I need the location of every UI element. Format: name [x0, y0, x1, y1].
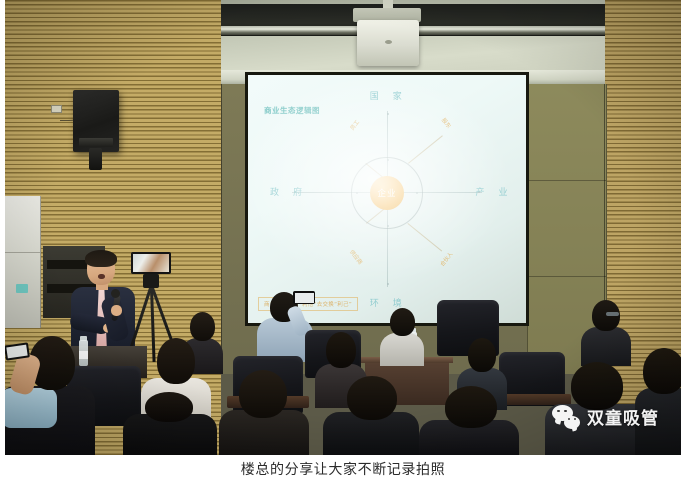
diagram-spoke [408, 135, 443, 163]
audience-phone [293, 291, 315, 304]
diagram-center-node: 企业 [370, 176, 404, 210]
watermark: 双童吸管 [552, 404, 659, 429]
audience-scarf [5, 388, 57, 428]
audience-member [323, 376, 419, 455]
diagram-satellite-label: 供应商 [348, 248, 364, 266]
slide-title: 商业生态逻辑图 [264, 105, 320, 116]
wechat-bubble-small [564, 416, 580, 429]
presenter-mouth [98, 274, 105, 279]
diagram-satellite-label: 员工 [348, 118, 361, 132]
audience-head [571, 362, 623, 410]
projection-screen-frame: 商业生态逻辑图 企业 [245, 72, 529, 326]
audience-body [581, 327, 631, 366]
audience-member [581, 300, 631, 366]
diagram-satellite-label: 股东 [440, 116, 453, 130]
audience-head [390, 308, 415, 336]
phone-screen [133, 254, 169, 272]
diagram-node-top: 国 家 [370, 89, 405, 102]
photo-page: 商业生态逻辑图 企业 [0, 0, 686, 482]
audience-head [643, 348, 681, 394]
recording-phone [131, 252, 171, 274]
audience-head [347, 376, 397, 420]
audience-head [157, 338, 195, 384]
audience-head [190, 312, 215, 341]
phone-screen [295, 293, 314, 303]
wechat-eye [574, 418, 576, 420]
projector-lens-icon [385, 40, 392, 44]
diagram-node-left: 政 府 [270, 185, 305, 198]
watermark-text: 双童吸管 [587, 404, 659, 429]
eyeglasses-icon [606, 312, 619, 316]
conference-photo: 商业生态逻辑图 企业 [5, 0, 681, 455]
photo-caption: 楼总的分享让大家不断记录拍照 [0, 455, 686, 482]
ring-dot [387, 159, 389, 161]
audience-member [219, 370, 309, 455]
phone-screen [6, 345, 27, 359]
wechat-icon [552, 405, 580, 429]
ring-dot [356, 192, 358, 194]
axis-dot [387, 283, 389, 285]
ceiling-rail [170, 26, 678, 35]
speaker-grill [79, 138, 113, 147]
audience-body [380, 333, 424, 366]
ring-dot [416, 192, 418, 194]
audience-member [419, 386, 519, 455]
speaker-mount-bracket [89, 148, 102, 170]
audience-member-photographer [5, 334, 95, 455]
diagram-satellite-label: 合伙人 [438, 250, 454, 268]
cabinet-badge [16, 284, 28, 293]
audience-head [239, 370, 287, 418]
cabinet-seam [5, 252, 40, 253]
caption-text: 楼总的分享让大家不断记录拍照 [241, 459, 445, 479]
audience-head [445, 386, 497, 428]
side-cabinet [5, 196, 41, 328]
axis-dot [387, 113, 389, 115]
ring-dot [387, 225, 389, 227]
center-node-label: 企业 [377, 187, 396, 199]
audience-head [468, 338, 496, 372]
audience-member [380, 308, 424, 366]
diagram-spoke [407, 223, 442, 251]
presenter-hair [85, 250, 117, 267]
tripod-head [143, 274, 159, 288]
audience-member [635, 348, 681, 455]
audience-member [123, 392, 217, 455]
projection-screen: 商业生态逻辑图 企业 [248, 75, 526, 323]
wechat-eye [564, 410, 567, 413]
microphone-head [111, 289, 120, 298]
audience-head [145, 392, 193, 422]
wechat-eye [568, 418, 570, 420]
wall-speaker [73, 90, 119, 152]
wechat-eye [557, 410, 560, 413]
audience-head [326, 332, 356, 368]
diagram-node-right: 产 业 [475, 185, 510, 198]
